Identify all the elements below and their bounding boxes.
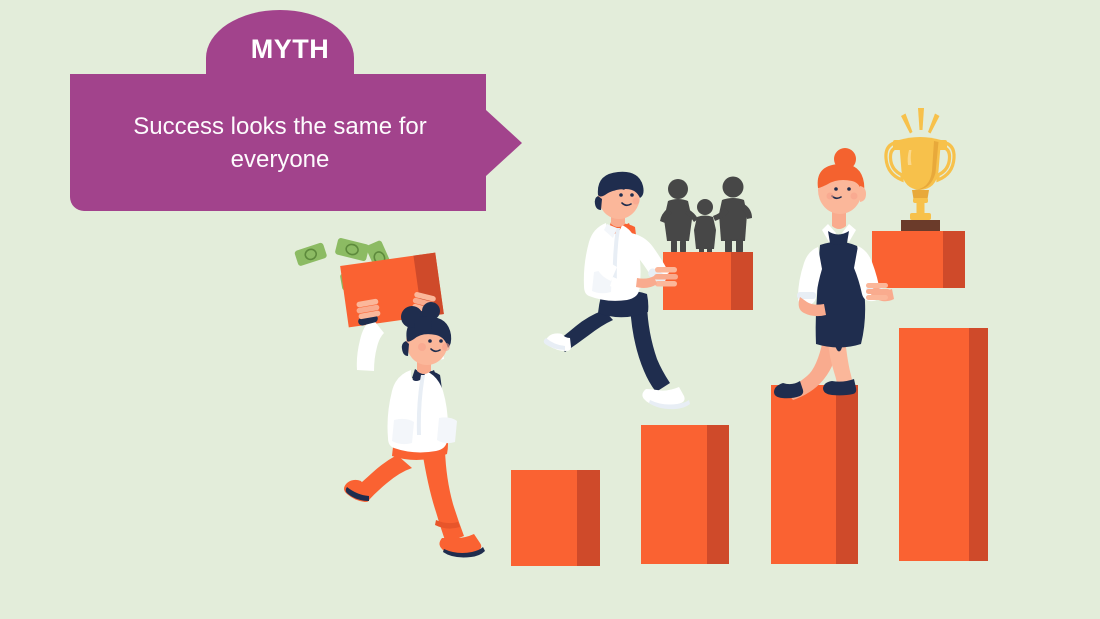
bar-chart — [511, 328, 988, 566]
box-trophy — [872, 231, 965, 288]
hand-on-box — [654, 267, 678, 287]
bar-1 — [511, 470, 600, 566]
hand-right — [866, 283, 890, 300]
bar-3 — [771, 385, 858, 564]
callout-body-text: Success looks the same for everyone — [82, 110, 478, 176]
bar-4 — [899, 328, 988, 561]
myth-callout: MYTH Success looks the same for everyone — [0, 0, 560, 230]
bar-2 — [641, 425, 729, 564]
figure-woman-with-money-box — [294, 237, 485, 557]
myth-tab-label: MYTH — [200, 36, 380, 63]
family-icon — [660, 177, 752, 257]
figure-man-with-family-box — [544, 172, 753, 409]
infographic-canvas: MYTH Success looks the same for everyone — [0, 0, 1100, 619]
trophy-icon — [886, 108, 954, 233]
box-family — [663, 252, 753, 310]
